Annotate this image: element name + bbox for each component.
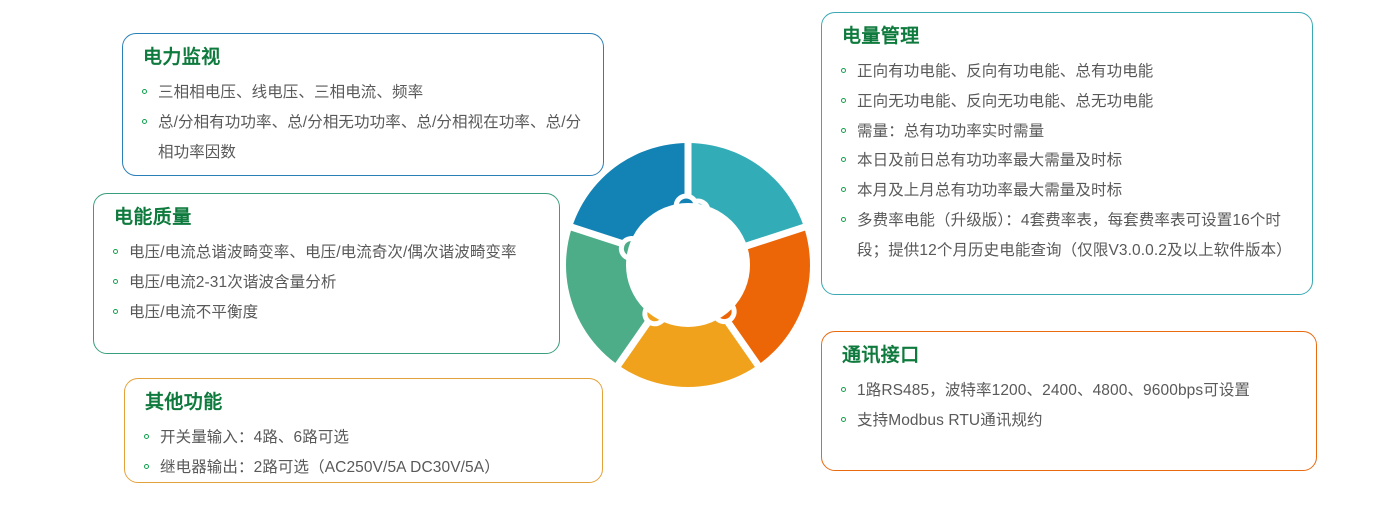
list-item-text: 正向有功电能、反向有功电能、总有功电能 — [857, 63, 1153, 80]
list-item-text: 继电器输出：2路可选（AC250V/5A DC30V/5A） — [160, 459, 500, 476]
list-item-text: 电压/电流不平衡度 — [129, 304, 258, 321]
bullet-circle-icon — [841, 128, 846, 133]
bullet-circle-icon — [841, 187, 846, 192]
feature-list-other-functions: 开关量输入：4路、6路可选 继电器输出：2路可选（AC250V/5A DC30V… — [143, 423, 584, 483]
list-item: 需量：总有功功率实时需量 — [840, 117, 1294, 147]
list-item: 三相相电压、线电压、三相电流、频率 — [141, 78, 585, 108]
list-item-text: 需量：总有功功率实时需量 — [857, 123, 1044, 140]
puzzle-ring-graphic — [566, 143, 810, 387]
list-item: 支持Modbus RTU通讯规约 — [840, 406, 1298, 436]
list-item-text: 总/分相有功功率、总/分相无功功率、总/分相视在功率、总/分相功率因数 — [158, 114, 581, 161]
bullet-circle-icon — [841, 417, 846, 422]
list-item: 总/分相有功功率、总/分相无功功率、总/分相视在功率、总/分相功率因数 — [141, 108, 585, 168]
list-item-text: 本日及前日总有功功率最大需量及时标 — [857, 152, 1122, 169]
list-item-text: 电压/电流总谐波畸变率、电压/电流奇次/偶次谐波畸变率 — [129, 244, 517, 261]
infographic-canvas: 电力监视 三相相电压、线电压、三相电流、频率 总/分相有功功率、总/分相无功功率… — [0, 0, 1400, 505]
list-item: 继电器输出：2路可选（AC250V/5A DC30V/5A） — [143, 453, 584, 483]
card-title-other-functions: 其他功能 — [145, 391, 584, 416]
bullet-circle-icon — [144, 464, 149, 469]
bullet-circle-icon — [113, 279, 118, 284]
card-comm-interface: 通讯接口 1路RS485，波特率1200、2400、4800、9600bps可设… — [821, 331, 1317, 471]
card-energy-management: 电量管理 正向有功电能、反向有功电能、总有功电能 正向无功电能、反向无功电能、总… — [821, 12, 1313, 295]
puzzle-ring-svg — [566, 143, 810, 387]
card-title-comm-interface: 通讯接口 — [842, 344, 1298, 369]
feature-list-power-monitoring: 三相相电压、线电压、三相电流、频率 总/分相有功功率、总/分相无功功率、总/分相… — [141, 78, 585, 168]
card-title-power-quality: 电能质量 — [114, 206, 541, 231]
puzzle-segments-group — [566, 143, 810, 387]
list-item-text: 电压/电流2-31次谐波含量分析 — [129, 274, 336, 291]
bullet-circle-icon — [113, 309, 118, 314]
bullet-circle-icon — [841, 387, 846, 392]
list-item-text: 1路RS485，波特率1200、2400、4800、9600bps可设置 — [857, 382, 1250, 399]
feature-list-comm-interface: 1路RS485，波特率1200、2400、4800、9600bps可设置 支持M… — [840, 376, 1298, 436]
list-item: 本月及上月总有功功率最大需量及时标 — [840, 176, 1294, 206]
card-title-energy-management: 电量管理 — [842, 25, 1294, 50]
list-item-text: 三相相电压、线电压、三相电流、频率 — [158, 84, 423, 101]
bullet-circle-icon — [841, 98, 846, 103]
list-item-text: 本月及上月总有功功率最大需量及时标 — [857, 182, 1122, 199]
card-other-functions: 其他功能 开关量输入：4路、6路可选 继电器输出：2路可选（AC250V/5A … — [124, 378, 603, 483]
list-item: 本日及前日总有功功率最大需量及时标 — [840, 146, 1294, 176]
list-item: 开关量输入：4路、6路可选 — [143, 423, 584, 453]
list-item: 1路RS485，波特率1200、2400、4800、9600bps可设置 — [840, 376, 1298, 406]
list-item-text: 支持Modbus RTU通讯规约 — [857, 412, 1043, 429]
list-item: 电压/电流2-31次谐波含量分析 — [112, 268, 541, 298]
bullet-circle-icon — [841, 217, 846, 222]
list-item: 正向无功电能、反向无功电能、总无功电能 — [840, 87, 1294, 117]
card-title-power-monitoring: 电力监视 — [143, 46, 585, 71]
list-item: 电压/电流总谐波畸变率、电压/电流奇次/偶次谐波畸变率 — [112, 238, 541, 268]
bullet-circle-icon — [113, 249, 118, 254]
list-item: 电压/电流不平衡度 — [112, 298, 541, 328]
bullet-circle-icon — [841, 68, 846, 73]
list-item-text: 正向无功电能、反向无功电能、总无功电能 — [857, 93, 1153, 110]
list-item-text: 多费率电能（升级版）：4套费率表，每套费率表可设置16个时段；提供12个月历史电… — [857, 212, 1292, 259]
list-item: 多费率电能（升级版）：4套费率表，每套费率表可设置16个时段；提供12个月历史电… — [840, 206, 1294, 266]
bullet-circle-icon — [142, 89, 147, 94]
bullet-circle-icon — [142, 119, 147, 124]
feature-list-power-quality: 电压/电流总谐波畸变率、电压/电流奇次/偶次谐波畸变率 电压/电流2-31次谐波… — [112, 238, 541, 328]
list-item: 正向有功电能、反向有功电能、总有功电能 — [840, 57, 1294, 87]
card-power-quality: 电能质量 电压/电流总谐波畸变率、电压/电流奇次/偶次谐波畸变率 电压/电流2-… — [93, 193, 560, 354]
bullet-circle-icon — [144, 434, 149, 439]
card-power-monitoring: 电力监视 三相相电压、线电压、三相电流、频率 总/分相有功功率、总/分相无功功率… — [122, 33, 604, 176]
bullet-circle-icon — [841, 157, 846, 162]
feature-list-energy-management: 正向有功电能、反向有功电能、总有功电能 正向无功电能、反向无功电能、总无功电能 … — [840, 57, 1294, 266]
list-item-text: 开关量输入：4路、6路可选 — [160, 429, 349, 446]
